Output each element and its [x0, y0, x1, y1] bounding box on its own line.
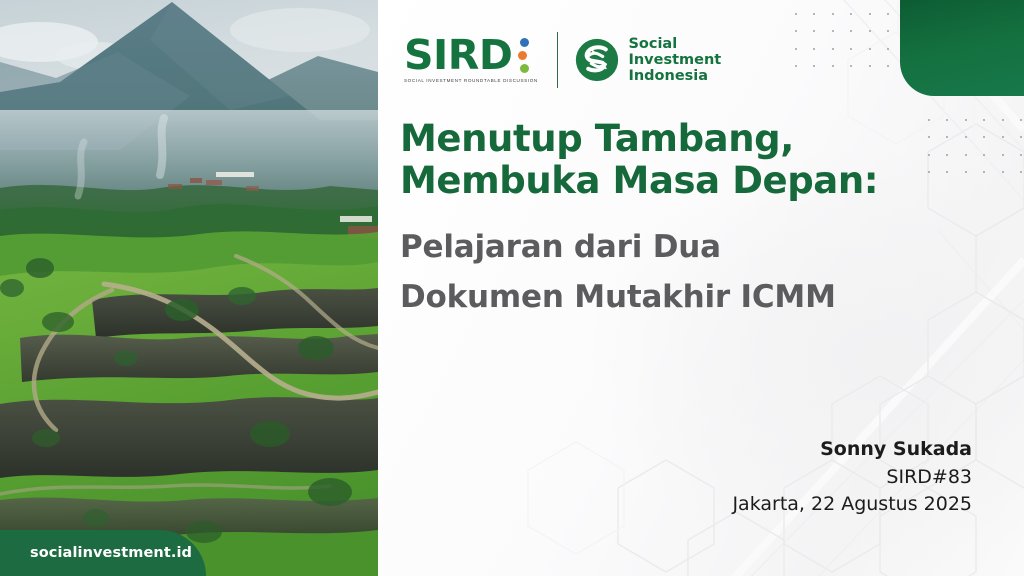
slide-subtitle-line-2: Dokumen Mutakhir ICMM: [400, 272, 960, 322]
mine-reclamation-photo: [0, 0, 378, 576]
sird-logo: SIRD SOCIAL INVESTMENT ROUNDTABLE DISCUS…: [404, 37, 538, 83]
sird-dots-icon: [518, 38, 529, 73]
logo-row: SIRD SOCIAL INVESTMENT ROUNDTABLE DISCUS…: [404, 32, 721, 88]
sird-wordmark: SIRD: [404, 37, 512, 75]
speaker-name: Sonny Sukada: [732, 436, 972, 464]
speaker-place-date: Jakarta, 22 Agustus 2025: [732, 491, 972, 519]
speaker-event: SIRD#83: [732, 464, 972, 492]
slide-title: Menutup Tambang, Membuka Masa Depan:: [400, 118, 960, 202]
social-investment-indonesia-logo: Social Investment Indonesia: [575, 36, 721, 85]
logo-divider: [557, 32, 559, 88]
dot-orange-icon: [518, 51, 527, 60]
slide-subtitle: Pelajaran dari Dua Dokumen Mutakhir ICMM: [400, 222, 960, 322]
sii-line-2: Investment: [628, 52, 721, 68]
dot-blue-icon: [520, 38, 529, 47]
slide-title-line-1: Menutup Tambang,: [400, 118, 960, 160]
handshake-circle-icon: [575, 38, 619, 82]
sird-logo-main: SIRD: [404, 37, 529, 75]
dot-green-icon: [520, 64, 529, 73]
website-label: socialinvestment.id: [30, 545, 192, 561]
green-corner-block-decoration: [900, 0, 1024, 96]
sii-wordmark: Social Investment Indonesia: [628, 36, 721, 85]
speaker-block: Sonny Sukada SIRD#83 Jakarta, 22 Agustus…: [732, 436, 972, 519]
sird-tagline: SOCIAL INVESTMENT ROUNDTABLE DISCUSSION: [404, 78, 538, 83]
slide-title-line-2: Membuka Masa Depan:: [400, 160, 960, 202]
slide-subtitle-line-1: Pelajaran dari Dua: [400, 222, 960, 272]
sii-line-3: Indonesia: [628, 68, 721, 84]
sii-line-1: Social: [628, 36, 721, 52]
website-badge[interactable]: socialinvestment.id: [0, 530, 206, 576]
title-slide: SIRD SOCIAL INVESTMENT ROUNDTABLE DISCUS…: [0, 0, 1024, 576]
